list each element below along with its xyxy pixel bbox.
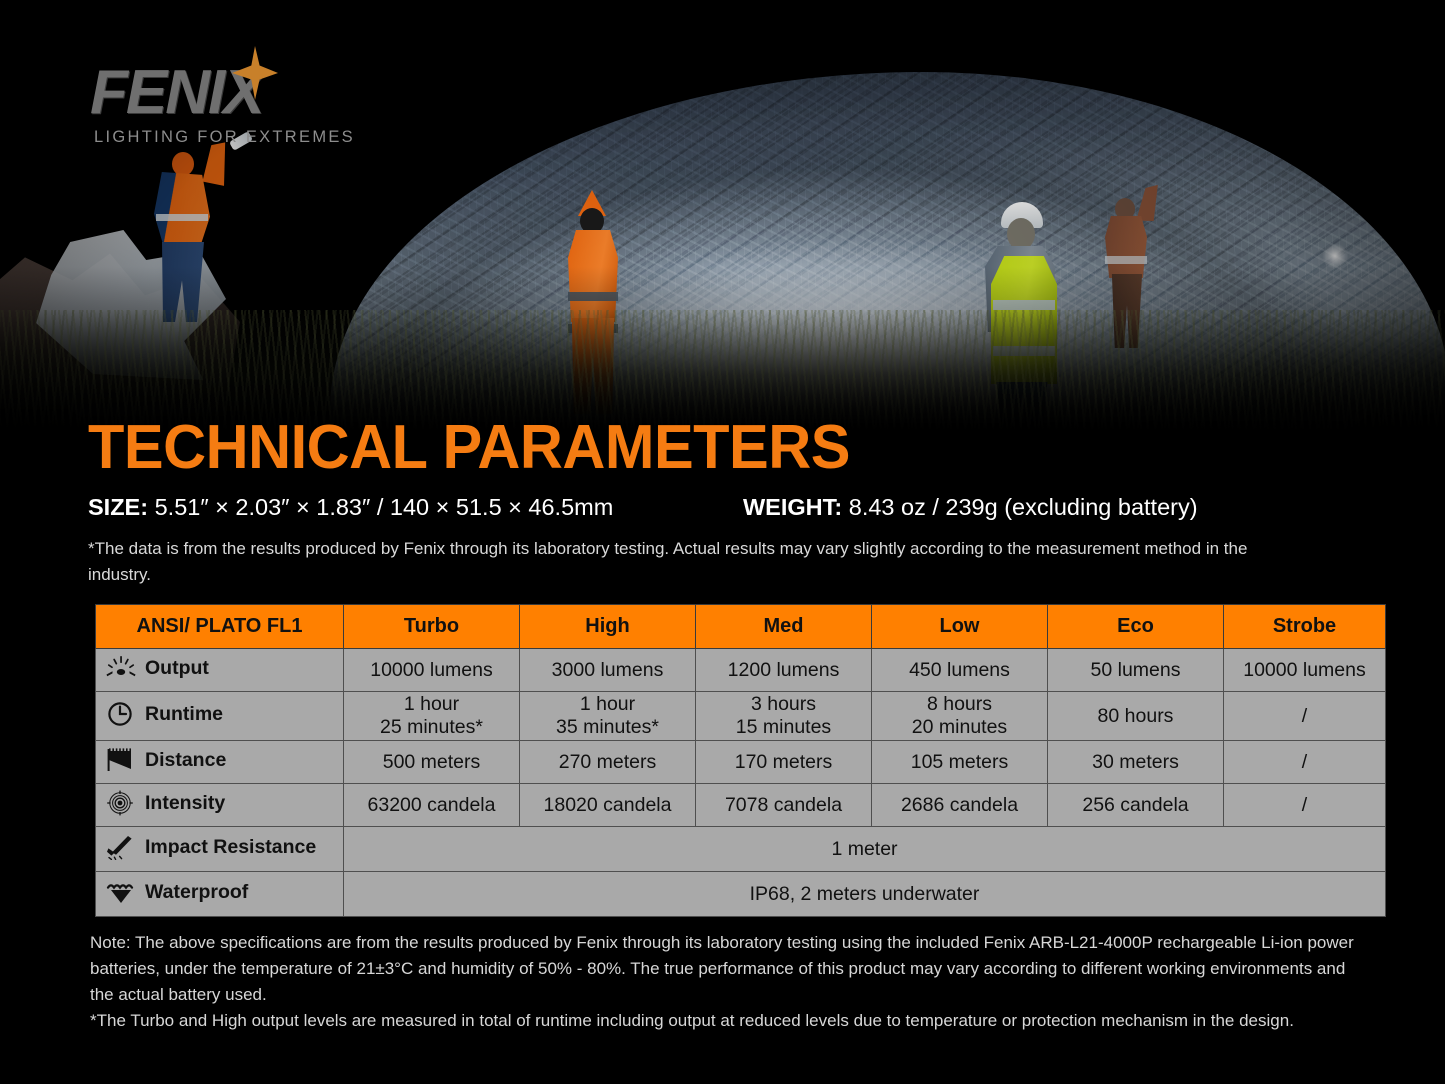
runtime-turbo-l1: 1 hour [344, 693, 519, 716]
cell-runtime-eco: 80 hours [1048, 692, 1224, 741]
fenix-tagline: LIGHTING FOR EXTREMES [94, 128, 390, 147]
header-turbo: Turbo [344, 605, 520, 649]
runtime-med-l2: 15 minutes [696, 716, 871, 739]
weight-spec: WEIGHT: 8.43 oz / 239g (excluding batter… [743, 494, 1198, 521]
note-line-2: *The Turbo and High output levels are me… [90, 1008, 1360, 1034]
weight-label: WEIGHT: [743, 494, 842, 520]
cell-intensity-high: 18020 candela [520, 784, 696, 827]
cell-intensity-eco: 256 candela [1048, 784, 1224, 827]
table-row: Runtime 1 hour 25 minutes* 1 hour 35 min… [96, 692, 1386, 741]
cell-output-low: 450 lumens [872, 649, 1048, 692]
cell-distance-eco: 30 meters [1048, 741, 1224, 784]
cell-runtime-turbo: 1 hour 25 minutes* [344, 692, 520, 741]
table-row: Waterproof IP68, 2 meters underwater [96, 872, 1386, 917]
cell-output-turbo: 10000 lumens [344, 649, 520, 692]
header-strobe: Strobe [1224, 605, 1386, 649]
page-title: TECHNICAL PARAMETERS [88, 412, 850, 483]
size-value: 5.51″ × 2.03″ × 1.83″ / 140 × 51.5 × 46.… [148, 494, 613, 520]
cell-output-eco: 50 lumens [1048, 649, 1224, 692]
param-cell-intensity: Intensity [96, 784, 344, 827]
runtime-turbo-l2: 25 minutes* [344, 716, 519, 739]
cell-intensity-turbo: 63200 candela [344, 784, 520, 827]
cell-output-strobe: 10000 lumens [1224, 649, 1386, 692]
table-row: Distance 500 meters 270 meters 170 meter… [96, 741, 1386, 784]
param-cell-output: Output [96, 649, 344, 692]
target-intensity-icon [106, 790, 136, 816]
table-row: Intensity 63200 candela 18020 candela 70… [96, 784, 1386, 827]
cell-runtime-low: 8 hours 20 minutes [872, 692, 1048, 741]
cell-intensity-med: 7078 candela [696, 784, 872, 827]
table-row: Impact Resistance 1 meter [96, 827, 1386, 872]
param-label-intensity: Intensity [145, 792, 225, 814]
runtime-low-l2: 20 minutes [872, 716, 1047, 739]
header-med: Med [696, 605, 872, 649]
cell-distance-strobe: / [1224, 741, 1386, 784]
param-label-distance: Distance [145, 749, 226, 771]
table-row: Output 10000 lumens 3000 lumens 1200 lum… [96, 649, 1386, 692]
runtime-high-l1: 1 hour [520, 693, 695, 716]
header-high: High [520, 605, 696, 649]
param-label-runtime: Runtime [145, 703, 223, 725]
param-cell-waterproof: Waterproof [96, 872, 344, 917]
note-line-1: Note: The above specifications are from … [90, 930, 1360, 1008]
cell-intensity-strobe: / [1224, 784, 1386, 827]
flash-burst-icon [106, 655, 136, 681]
weight-value: 8.43 oz / 239g (excluding battery) [842, 494, 1197, 520]
runtime-low-l1: 8 hours [872, 693, 1047, 716]
size-label: SIZE: [88, 494, 148, 520]
water-drop-icon [106, 879, 136, 905]
cell-distance-low: 105 meters [872, 741, 1048, 784]
cell-output-high: 3000 lumens [520, 649, 696, 692]
fenix-logo: FENIX LIGHTING FOR EXTREMES [90, 62, 390, 147]
cell-runtime-high: 1 hour 35 minutes* [520, 692, 696, 741]
lab-testing-disclaimer: *The data is from the results produced b… [88, 536, 1248, 588]
impact-hammer-icon [106, 834, 136, 860]
header-eco: Eco [1048, 605, 1224, 649]
size-spec: SIZE: 5.51″ × 2.03″ × 1.83″ / 140 × 51.5… [88, 494, 613, 521]
param-cell-impact-resistance: Impact Resistance [96, 827, 344, 872]
param-cell-runtime: Runtime [96, 692, 344, 741]
header-low: Low [872, 605, 1048, 649]
cell-waterproof-value: IP68, 2 meters underwater [344, 872, 1386, 917]
clock-icon [106, 701, 136, 727]
beam-distance-icon [106, 747, 136, 773]
param-cell-distance: Distance [96, 741, 344, 784]
technical-parameters-table: ANSI/ PLATO FL1 Turbo High Med Low Eco S… [95, 604, 1386, 917]
param-label-output: Output [145, 657, 209, 679]
cell-output-med: 1200 lumens [696, 649, 872, 692]
param-label-waterproof: Waterproof [145, 881, 248, 903]
table-header-row: ANSI/ PLATO FL1 Turbo High Med Low Eco S… [96, 605, 1386, 649]
runtime-high-l2: 35 minutes* [520, 716, 695, 739]
cell-distance-high: 270 meters [520, 741, 696, 784]
cell-runtime-strobe: / [1224, 692, 1386, 741]
cell-impact-resistance-value: 1 meter [344, 827, 1386, 872]
cell-intensity-low: 2686 candela [872, 784, 1048, 827]
header-ansi-plato: ANSI/ PLATO FL1 [96, 605, 344, 649]
runtime-med-l1: 3 hours [696, 693, 871, 716]
cell-runtime-med: 3 hours 15 minutes [696, 692, 872, 741]
footer-note: Note: The above specifications are from … [90, 930, 1360, 1034]
cell-distance-turbo: 500 meters [344, 741, 520, 784]
cell-distance-med: 170 meters [696, 741, 872, 784]
param-label-impact-resistance: Impact Resistance [145, 836, 316, 858]
